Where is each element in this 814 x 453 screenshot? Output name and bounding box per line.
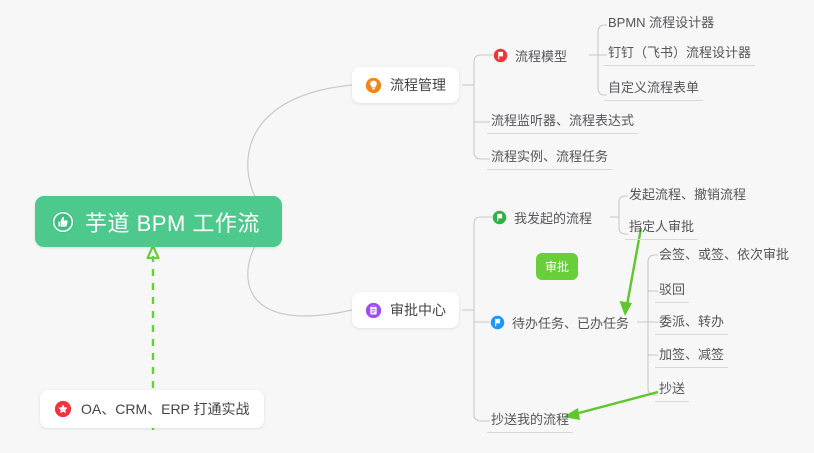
thumbs-up-icon bbox=[51, 210, 75, 234]
leaf-assignee-approval[interactable]: 指定人审批 bbox=[625, 216, 698, 240]
flag-icon bbox=[492, 210, 507, 225]
lightbulb-icon bbox=[365, 77, 382, 94]
branch-node-approval-center[interactable]: 审批中心 bbox=[352, 292, 459, 328]
leaf-reject[interactable]: 驳回 bbox=[655, 279, 689, 303]
root-label: 芋道 BPM 工作流 bbox=[85, 206, 260, 238]
branch-label: 流程管理 bbox=[390, 75, 446, 95]
leaf-bpmn-designer[interactable]: BPMN 流程设计器 bbox=[604, 12, 718, 35]
mindmap-canvas: 芋道 BPM 工作流 流程管理 流程模型 BPMN 流程设计器 钉钉（飞书）流程… bbox=[0, 0, 814, 453]
flag-icon bbox=[490, 315, 505, 330]
star-icon bbox=[54, 400, 72, 418]
leaf-cc[interactable]: 抄送 bbox=[655, 378, 689, 402]
leaf-delegate-transfer[interactable]: 委派、转办 bbox=[655, 311, 728, 335]
note-label: OA、CRM、ERP 打通实战 bbox=[81, 399, 250, 419]
approval-annotation-chip[interactable]: 审批 bbox=[536, 253, 578, 280]
node-label: 流程模型 bbox=[515, 46, 567, 65]
leaf-process-listener[interactable]: 流程监听器、流程表达式 bbox=[487, 110, 638, 134]
branch-label: 审批中心 bbox=[390, 300, 446, 320]
approval-flow-arrow bbox=[620, 228, 642, 316]
leaf-add-remove-sign[interactable]: 加签、减签 bbox=[655, 344, 728, 368]
node-todo-done-tasks[interactable]: 待办任务、已办任务 bbox=[490, 311, 629, 333]
node-label: 我发起的流程 bbox=[514, 208, 592, 227]
branch-node-process-management[interactable]: 流程管理 bbox=[352, 67, 459, 103]
leaf-custom-form[interactable]: 自定义流程表单 bbox=[604, 77, 703, 101]
leaf-start-cancel-process[interactable]: 发起流程、撤销流程 bbox=[625, 184, 750, 207]
leaf-countersign[interactable]: 会签、或签、依次审批 bbox=[655, 244, 793, 267]
note-node-integration[interactable]: OA、CRM、ERP 打通实战 bbox=[40, 390, 264, 428]
root-node[interactable]: 芋道 BPM 工作流 bbox=[35, 196, 282, 247]
leaf-dingtalk-designer[interactable]: 钉钉（飞书）流程设计器 bbox=[604, 42, 755, 66]
leaf-process-instance[interactable]: 流程实例、流程任务 bbox=[487, 146, 612, 170]
leaf-cc-my-process[interactable]: 抄送我的流程 bbox=[487, 409, 573, 433]
clipboard-icon bbox=[365, 302, 382, 319]
node-label: 待办任务、已办任务 bbox=[512, 313, 629, 332]
node-my-started-process[interactable]: 我发起的流程 bbox=[492, 206, 592, 228]
node-process-model[interactable]: 流程模型 bbox=[493, 44, 567, 66]
cc-flow-arrow bbox=[563, 392, 658, 420]
flag-icon bbox=[493, 48, 508, 63]
